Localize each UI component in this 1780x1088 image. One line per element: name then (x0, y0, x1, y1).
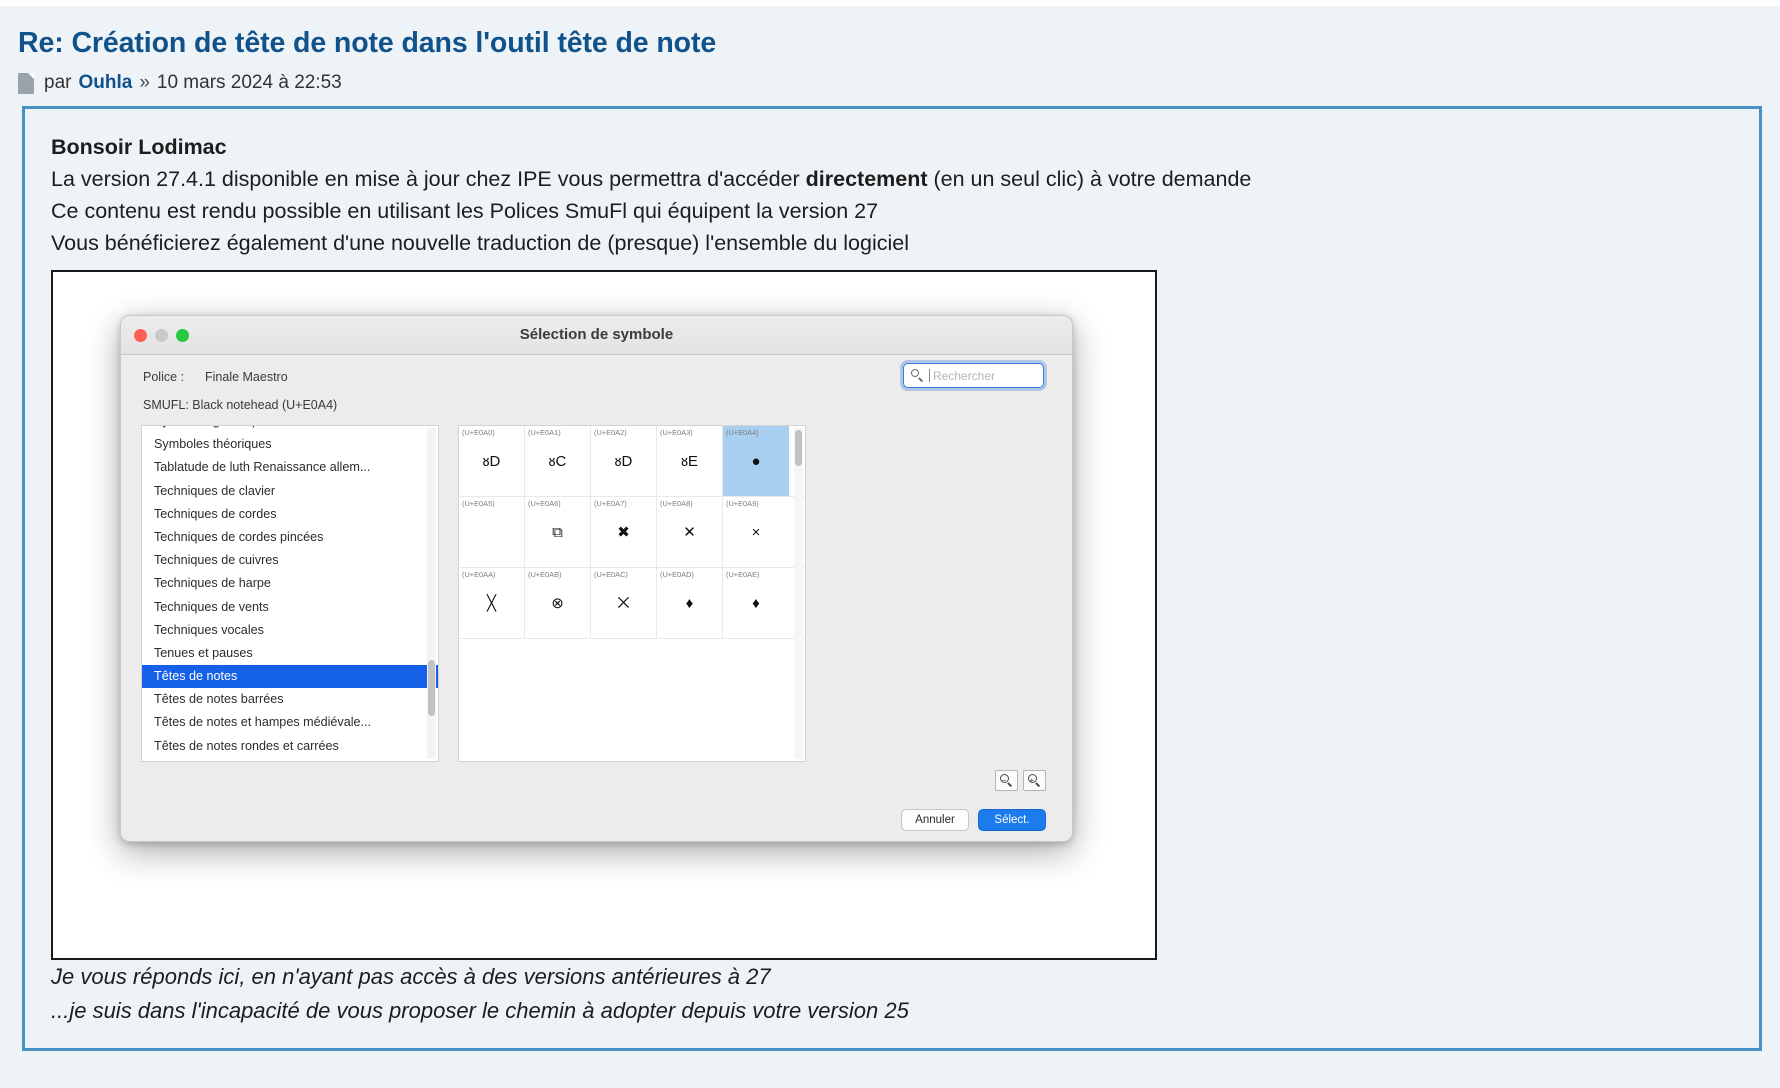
symbol-codepoint-label: (U+E0A4) (726, 428, 759, 437)
symbol-glyph: ⊗ (525, 596, 590, 611)
category-list-item[interactable]: Techniques de cordes pincées (142, 526, 438, 549)
category-scrollbar[interactable] (427, 428, 436, 759)
author-link[interactable]: Ouhla (78, 72, 132, 94)
category-list-item[interactable]: Techniques de vents (142, 596, 438, 619)
search-icon (911, 369, 924, 382)
message-greeting: Bonsoir Lodimac (51, 131, 1759, 163)
symbol-grid-cell[interactable]: (U+E0A4)● (723, 426, 789, 496)
category-list-item[interactable]: Techniques de cuivres (142, 549, 438, 572)
message-line-2-part-a: La version 27.4.1 disponible en mise à j… (51, 167, 806, 191)
symbol-grid-cell[interactable]: (U+E0A2)ᴕD (591, 426, 657, 496)
symbol-codepoint-label: (U+E0A2) (594, 428, 627, 437)
symbol-glyph: ♦ (657, 596, 722, 611)
symbol-codepoint-label: (U+E0A9) (726, 499, 759, 508)
symbol-codepoint-label: (U+E0AE) (726, 570, 759, 579)
category-list-item[interactable]: Têtes de notes et hampes médiévale... (142, 711, 438, 734)
symbol-codepoint-label: (U+E0AC) (594, 570, 628, 579)
symbol-glyph: ᴕE (657, 454, 722, 469)
post-message-body: Bonsoir Lodimac La version 27.4.1 dispon… (22, 106, 1762, 1051)
zoom-out-icon[interactable]: − (995, 770, 1018, 791)
search-field[interactable]: Rechercher (903, 363, 1044, 388)
category-list-item[interactable]: Têtes de notes barrées (142, 688, 438, 711)
zoom-out-sign: − (1002, 777, 1007, 785)
category-list-item[interactable]: Techniques de cordes (142, 503, 438, 526)
search-placeholder: Rechercher (933, 369, 995, 383)
symbol-grid-row: (U+E0AA)╳(U+E0AB)⊗(U+E0AC)⨉(U+E0AD)♦(U+E… (459, 568, 805, 639)
symbol-grid-cell[interactable]: (U+E0A9)× (723, 497, 789, 567)
by-label: par (44, 72, 71, 94)
symbol-grid-cell[interactable]: (U+E0AD)♦ (657, 568, 723, 638)
symbol-glyph: ⧉ (525, 525, 590, 540)
cancel-button[interactable]: Annuler (901, 809, 969, 831)
dialog-body: Police :Finale Maestro SMUFL: Black note… (121, 355, 1072, 842)
symbol-glyph: ᴕC (525, 454, 590, 469)
symbol-grid-cell[interactable]: (U+E0A0)ᴕD (459, 426, 525, 496)
category-list-panel[interactable]: Symboles génériquesSymboles théoriquesTa… (141, 425, 439, 762)
category-list: Symboles génériquesSymboles théoriquesTa… (142, 425, 438, 762)
symbol-codepoint-label: (U+E0A7) (594, 499, 627, 508)
symbol-glyph: ♦ (723, 596, 789, 611)
message-line-2: La version 27.4.1 disponible en mise à j… (51, 163, 1759, 195)
post-byline: par Ouhla » 10 mars 2024 à 22:53 (18, 72, 1780, 94)
font-meta-row: Police :Finale Maestro (143, 370, 288, 384)
category-list-item[interactable]: Techniques de clavier (142, 480, 438, 503)
symbol-codepoint-label: (U+E0A0) (462, 428, 495, 437)
category-list-item[interactable]: Tenues et pauses (142, 642, 438, 665)
symbol-codepoint-label: (U+E0AA) (462, 570, 495, 579)
symbol-grid-cell[interactable]: (U+E0AB)⊗ (525, 568, 591, 638)
symbol-codepoint-label: (U+E0AB) (528, 570, 561, 579)
symbol-glyph: ᴕD (591, 454, 656, 469)
dialog-action-buttons: Annuler Sélect. (901, 809, 1046, 831)
font-value: Finale Maestro (205, 370, 288, 384)
embedded-screenshot-image: Sélection de symbole Police :Finale Maes… (51, 270, 1157, 960)
forum-post: Re: Création de tête de note dans l'outi… (0, 6, 1780, 1088)
category-list-item[interactable]: Techniques de harpe (142, 572, 438, 595)
symbol-codepoint-label: (U+E0A3) (660, 428, 693, 437)
symbol-grid-cell[interactable]: (U+E0A3)ᴕE (657, 426, 723, 496)
category-list-item[interactable]: Symboles génériques (142, 425, 438, 433)
smufl-meta-row: SMUFL: Black notehead (U+E0A4) (143, 398, 337, 412)
symbol-grid-cell[interactable]: (U+E0A8)✕ (657, 497, 723, 567)
message-line-4: Vous bénéficierez également d'une nouvel… (51, 227, 1759, 259)
post-timestamp: 10 mars 2024 à 22:53 (157, 72, 342, 94)
dialog-titlebar[interactable]: Sélection de symbole (121, 316, 1072, 355)
symbol-grid: (U+E0A0)ᴕD(U+E0A1)ᴕC(U+E0A2)ᴕD(U+E0A3)ᴕE… (459, 426, 805, 639)
symbol-glyph: ✖ (591, 525, 656, 540)
category-list-item[interactable]: Techniques vocales (142, 619, 438, 642)
zoom-in-icon[interactable]: + (1023, 770, 1046, 791)
symbol-glyph: ⨉ (591, 596, 656, 611)
symbol-codepoint-label: (U+E0AD) (660, 570, 694, 579)
symbol-glyph: ● (723, 454, 789, 469)
symbol-glyph: ╳ (459, 596, 524, 611)
symbol-grid-cell[interactable]: (U+E0A5) (459, 497, 525, 567)
message-line-3: Ce contenu est rendu possible en utilisa… (51, 195, 1759, 227)
post-header: Re: Création de tête de note dans l'outi… (0, 6, 1780, 94)
byline-separator: » (139, 72, 150, 94)
symbol-glyph: ᴕD (459, 454, 524, 469)
document-icon (18, 73, 34, 94)
symbol-grid-cell[interactable]: (U+E0A6)⧉ (525, 497, 591, 567)
symbol-grid-cell[interactable]: (U+E0A1)ᴕC (525, 426, 591, 496)
symbol-grid-scrollbar[interactable] (794, 428, 803, 759)
symbol-grid-cell[interactable]: (U+E0A7)✖ (591, 497, 657, 567)
category-list-item[interactable]: Trémolos (142, 758, 438, 762)
symbol-grid-cell[interactable]: (U+E0AC)⨉ (591, 568, 657, 638)
symbol-grid-row: (U+E0A0)ᴕD(U+E0A1)ᴕC(U+E0A2)ᴕD(U+E0A3)ᴕE… (459, 426, 805, 497)
symbol-grid-row: (U+E0A5)(U+E0A6)⧉(U+E0A7)✖(U+E0A8)✕(U+E0… (459, 497, 805, 568)
message-line-2-part-b: (en un seul clic) à votre demande (928, 167, 1252, 191)
dialog-title: Sélection de symbole (121, 326, 1072, 343)
symbol-grid-panel[interactable]: (U+E0A0)ᴕD(U+E0A1)ᴕC(U+E0A2)ᴕD(U+E0A3)ᴕE… (458, 425, 806, 762)
category-list-item[interactable]: Symboles théoriques (142, 433, 438, 456)
category-scrollbar-thumb[interactable] (428, 660, 435, 716)
symbol-codepoint-label: (U+E0A8) (660, 499, 693, 508)
message-footer-line-2: ...je suis dans l'incapacité de vous pro… (51, 994, 1759, 1028)
category-list-item[interactable]: Tablatude de luth Renaissance allem... (142, 456, 438, 479)
text-caret (929, 369, 930, 382)
symbol-codepoint-label: (U+E0A1) (528, 428, 561, 437)
symbol-grid-cell[interactable]: (U+E0AA)╳ (459, 568, 525, 638)
zoom-controls: − + (995, 770, 1046, 791)
page-title[interactable]: Re: Création de tête de note dans l'outi… (18, 28, 1780, 59)
zoom-in-sign: + (1030, 777, 1035, 785)
symbol-glyph: × (723, 525, 789, 540)
symbol-selection-dialog: Sélection de symbole Police :Finale Maes… (120, 315, 1073, 842)
symbol-codepoint-label: (U+E0A5) (462, 499, 495, 508)
symbol-grid-scrollbar-thumb[interactable] (795, 430, 802, 466)
symbol-codepoint-label: (U+E0A6) (528, 499, 561, 508)
select-button[interactable]: Sélect. (978, 809, 1046, 831)
symbol-glyph: ✕ (657, 525, 722, 540)
font-label: Police : (143, 370, 205, 384)
message-line-2-emphasis: directement (806, 167, 928, 191)
category-list-item[interactable]: Têtes de notes (142, 665, 438, 688)
symbol-grid-cell[interactable]: (U+E0AE)♦ (723, 568, 789, 638)
message-footer-line-1: Je vous réponds ici, en n'ayant pas accè… (51, 960, 1759, 994)
category-list-item[interactable]: Têtes de notes rondes et carrées (142, 735, 438, 758)
